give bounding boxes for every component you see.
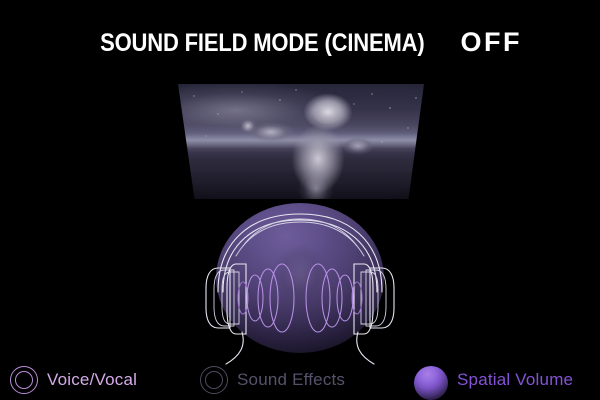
headband-outer-arc bbox=[218, 214, 382, 292]
sound-wave-r3 bbox=[322, 269, 342, 327]
filled-sphere-icon bbox=[414, 366, 448, 400]
headphones-icon bbox=[196, 196, 404, 372]
concentric-rings-icon bbox=[200, 366, 228, 394]
sound-field-mode-screen: SOUND FIELD MODE (CINEMA)OFF bbox=[0, 0, 600, 400]
legend-item-spatial-volume-label: Spatial Volume bbox=[457, 370, 573, 390]
status-badge: OFF bbox=[461, 29, 523, 56]
page-title: SOUND FIELD MODE (CINEMA)OFF bbox=[0, 29, 600, 56]
legend: Voice/Vocal Sound Effects Spatial Volume bbox=[0, 354, 600, 400]
tv-screen-image bbox=[176, 84, 426, 199]
legend-item-sound-effects[interactable]: Sound Effects bbox=[200, 366, 345, 394]
sound-wave-r4 bbox=[306, 264, 330, 332]
legend-item-voice-vocal[interactable]: Voice/Vocal bbox=[10, 366, 137, 394]
legend-item-spatial-volume[interactable]: Spatial Volume bbox=[414, 366, 573, 394]
legend-item-voice-vocal-label: Voice/Vocal bbox=[47, 370, 137, 390]
left-earcup-outer bbox=[206, 268, 230, 328]
right-earcup-outer bbox=[370, 268, 394, 328]
sound-wave-l3 bbox=[258, 269, 278, 327]
sound-wave-l2 bbox=[247, 275, 263, 321]
sound-wave-l4 bbox=[270, 264, 294, 332]
page-title-text: SOUND FIELD MODE (CINEMA) bbox=[100, 31, 424, 56]
headband-top-band bbox=[236, 222, 364, 256]
tv-screen bbox=[176, 84, 426, 199]
sound-wave-r2 bbox=[337, 275, 353, 321]
legend-item-sound-effects-label: Sound Effects bbox=[237, 370, 345, 390]
concentric-rings-icon bbox=[10, 366, 38, 394]
headband-top-band-2 bbox=[243, 219, 357, 246]
